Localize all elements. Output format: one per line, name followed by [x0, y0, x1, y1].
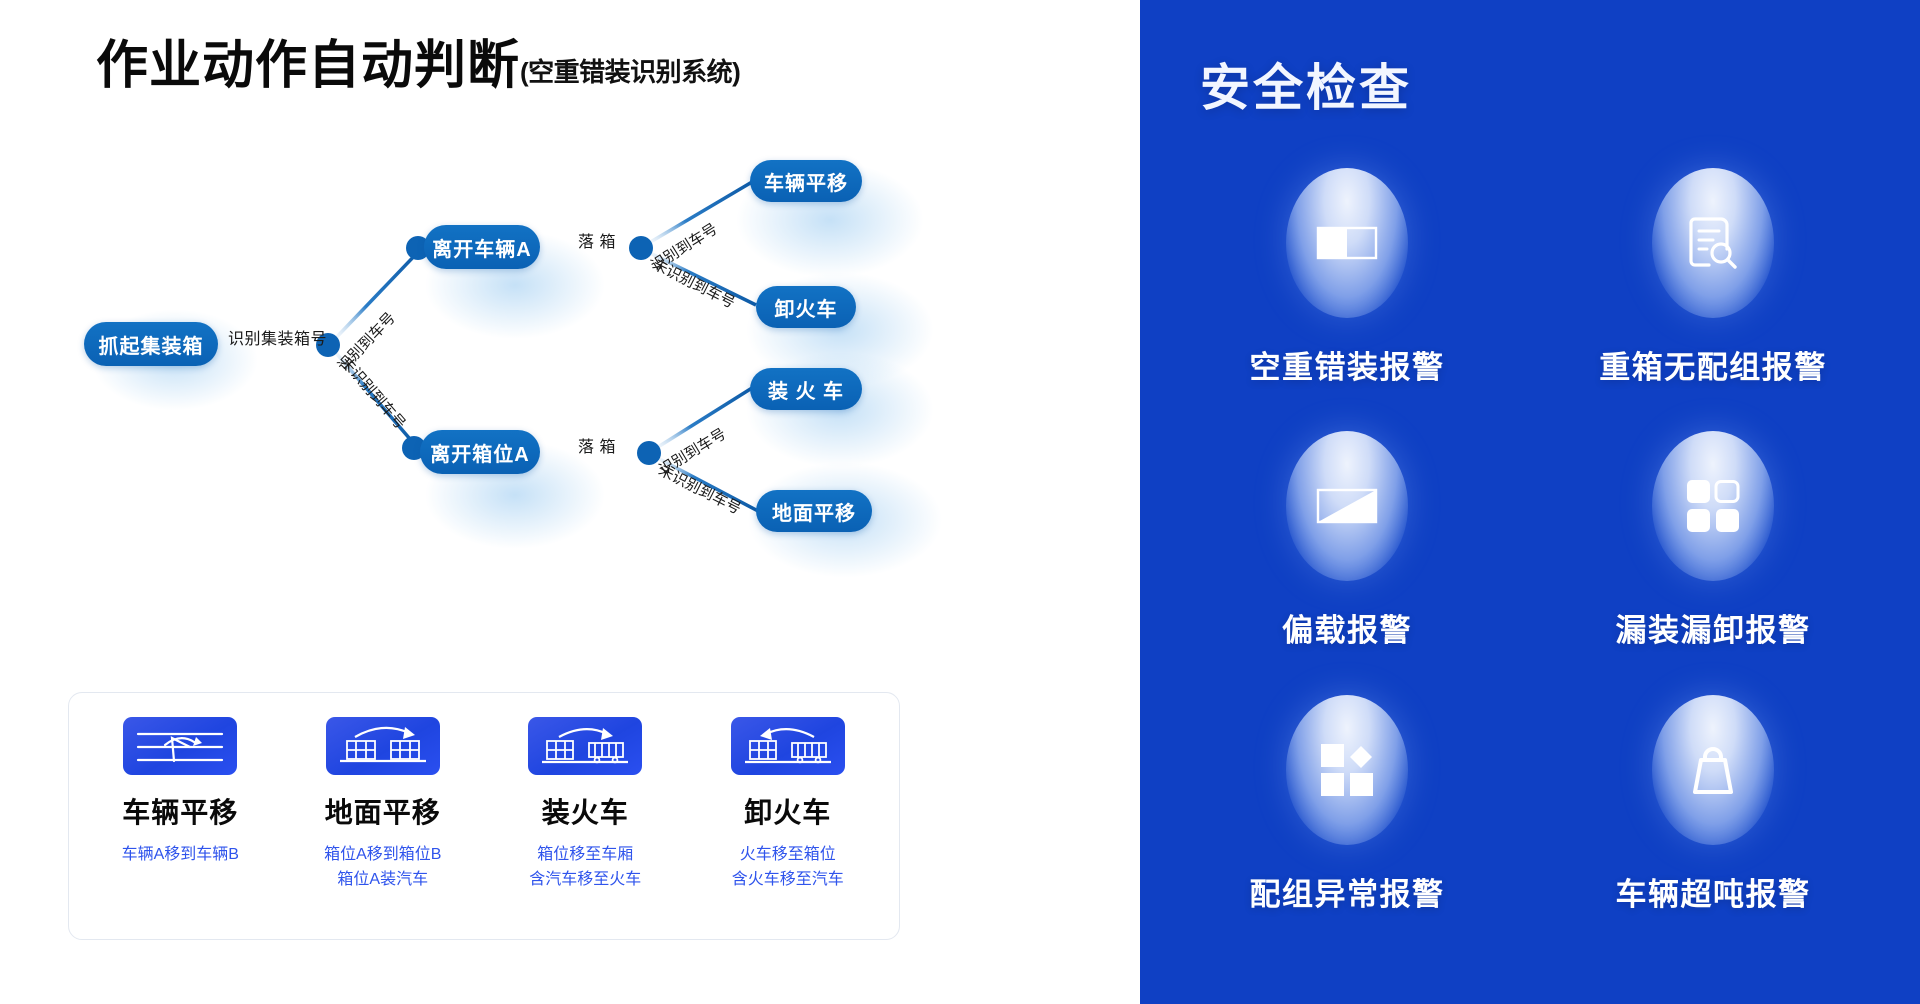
legend-item-unload-train[interactable]: 卸火车 火车移至箱位 含火车移至汽车 [687, 717, 890, 893]
load-train-icon [528, 717, 642, 775]
flow-connectors [0, 120, 1140, 680]
node-pick-container[interactable]: 抓起集装箱 [84, 322, 218, 366]
safety-check-grid: 空重错装报警 重箱无配组报警 [1164, 168, 1896, 958]
legend-title: 装火车 [542, 791, 629, 831]
legend-desc: 箱位移至车厢 含汽车移至火车 [529, 843, 641, 893]
edge-label-drop-box-lower: 落 箱 [578, 433, 616, 457]
safety-label: 车辆超吨报警 [1616, 869, 1811, 914]
safety-item-eccentric-load[interactable]: 偏载报警 [1164, 431, 1530, 694]
vehicle-shift-icon [123, 717, 237, 775]
weight-icon [1652, 695, 1774, 845]
node-leave-vehicle-a[interactable]: 离开车辆A [424, 225, 540, 269]
safety-label: 配组异常报警 [1250, 869, 1445, 914]
workflow-diagram: 抓起集装箱 离开车辆A 离开箱位A 车辆平移 卸火车 装 火 车 地面平移 识别… [0, 120, 1140, 680]
safety-item-vehicle-overweight[interactable]: 车辆超吨报警 [1530, 695, 1896, 958]
safety-label: 空重错装报警 [1250, 342, 1445, 387]
safety-label: 漏装漏卸报警 [1616, 605, 1811, 650]
safety-item-missed-load-unload[interactable]: 漏装漏卸报警 [1530, 431, 1896, 694]
node-unload-train[interactable]: 卸火车 [756, 286, 856, 328]
tilted-load-icon [1286, 431, 1408, 581]
legend-desc: 车辆A移到车辆B [122, 843, 239, 868]
unload-train-icon [731, 717, 845, 775]
title-main: 作业动作自动判断 [96, 40, 520, 92]
edge-label-identify-container-no: 识别集装箱号 [228, 325, 327, 349]
safety-check-title: 安全检查 [1200, 48, 1412, 120]
title-subtitle: (空重错装识别系统) [520, 52, 740, 92]
legend-title: 卸火车 [744, 791, 831, 831]
legend-item-vehicle-shift[interactable]: 车辆平移 车辆A移到车辆B [79, 717, 282, 868]
legend-desc: 火车移至箱位 含火车移至汽车 [732, 843, 844, 893]
safety-check-panel: 安全检查 空重错装报警 [1140, 0, 1920, 1004]
node-ground-shift[interactable]: 地面平移 [756, 490, 872, 532]
legend-item-ground-shift[interactable]: 地面平移 箱位A移到箱位B 箱位A装汽车 [282, 717, 485, 893]
safety-item-grouping-abnormal[interactable]: 配组异常报警 [1164, 695, 1530, 958]
safety-label: 偏载报警 [1282, 605, 1412, 650]
legend-card: 车辆平移 车辆A移到车辆B [68, 692, 900, 940]
safety-label: 重箱无配组报警 [1599, 342, 1827, 387]
legend-desc: 箱位A移到箱位B 箱位A装汽车 [324, 843, 441, 893]
document-search-icon [1652, 168, 1774, 318]
node-vehicle-shift[interactable]: 车辆平移 [750, 160, 862, 202]
safety-item-heavy-box-no-group[interactable]: 重箱无配组报警 [1530, 168, 1896, 431]
node-leave-slot-a[interactable]: 离开箱位A [420, 430, 540, 474]
legend-title: 地面平移 [325, 791, 441, 831]
half-filled-box-icon [1286, 168, 1408, 318]
page-title: 作业动作自动判断 (空重错装识别系统) [96, 40, 740, 92]
legend-item-load-train[interactable]: 装火车 箱位移至车厢 含汽车移至火车 [484, 717, 687, 893]
four-squares-icon [1652, 431, 1774, 581]
mixed-shapes-icon [1286, 695, 1408, 845]
edge-label-drop-box-upper: 落 箱 [578, 228, 616, 252]
slide-root: 作业动作自动判断 (空重错装识别系统) [0, 0, 1920, 1004]
node-load-train[interactable]: 装 火 车 [750, 368, 862, 410]
ground-shift-icon [326, 717, 440, 775]
safety-item-empty-heavy-mismatch[interactable]: 空重错装报警 [1164, 168, 1530, 431]
left-panel: 作业动作自动判断 (空重错装识别系统) [0, 0, 1140, 1004]
legend-title: 车辆平移 [122, 791, 238, 831]
